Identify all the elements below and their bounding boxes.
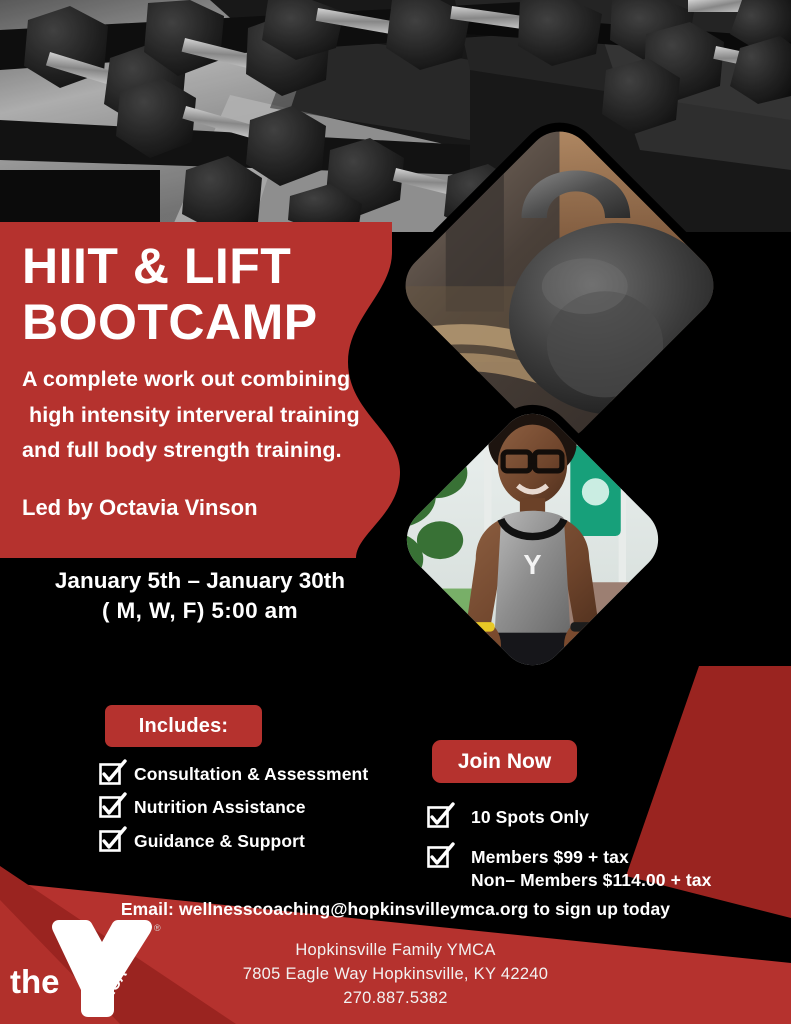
checkbox-checked-icon	[428, 846, 449, 867]
flyer-poster: Y HIIT & LIFT BOOTCAMP A complete work o…	[0, 0, 791, 1024]
list-item: Members $99 + tax Non– Members $114.00 +…	[428, 845, 768, 891]
list-item: Nutrition Assistance	[100, 795, 430, 818]
offer-item: Members $99 + tax Non– Members $114.00 +…	[471, 845, 711, 891]
ymca-logo: the YMCA ®	[8, 915, 168, 1020]
list-item: Guidance & Support	[100, 829, 430, 852]
includes-item-label: Guidance & Support	[134, 829, 305, 852]
schedule-block: January 5th – January 30th ( M, W, F) 5:…	[0, 566, 400, 626]
headline-block: HIIT & LIFT BOOTCAMP A complete work out…	[0, 222, 420, 558]
checkbox-checked-icon	[100, 796, 121, 817]
headline-line-2: BOOTCAMP	[22, 294, 420, 350]
checkbox-checked-icon	[100, 830, 121, 851]
list-item: Consultation & Assessment	[100, 762, 430, 785]
schedule-days-time: ( M, W, F) 5:00 am	[0, 596, 400, 626]
checkbox-checked-icon	[428, 806, 449, 827]
offer-line-1: 10 Spots Only	[471, 806, 589, 828]
headline-line-1: HIIT & LIFT	[22, 238, 291, 294]
top-banner-photo	[0, 0, 791, 232]
includes-item-label: Consultation & Assessment	[134, 762, 368, 785]
offers-checklist: 10 Spots Only Members $99 + tax Non– Mem…	[428, 805, 768, 908]
page-title: HIIT & LIFT BOOTCAMP	[22, 238, 420, 350]
list-item: 10 Spots Only	[428, 805, 768, 828]
svg-text:Y: Y	[523, 548, 541, 579]
instructor-portrait-photo: Y	[380, 387, 684, 691]
description-line-2: high intensity interveral training	[22, 398, 420, 434]
schedule-dates: January 5th – January 30th	[55, 568, 345, 593]
join-now-button[interactable]: Join Now	[432, 740, 577, 783]
offer-line-2: Non– Members $114.00 + tax	[471, 869, 711, 891]
logo-the-text: the	[10, 963, 60, 1000]
includes-badge: Includes:	[105, 705, 262, 747]
registered-mark: ®	[154, 923, 161, 933]
includes-badge-label: Includes:	[139, 715, 229, 738]
includes-item-label: Nutrition Assistance	[134, 795, 306, 818]
offer-item: 10 Spots Only	[471, 805, 589, 828]
offer-line-1: Members $99 + tax	[471, 846, 711, 868]
join-now-label: Join Now	[458, 750, 551, 774]
description-line-1: A complete work out combining	[22, 362, 420, 398]
description-line-3: and full body strength training.	[22, 433, 420, 469]
checkbox-checked-icon	[100, 763, 121, 784]
includes-checklist: Consultation & Assessment Nutrition Assi…	[100, 762, 430, 862]
instructor-credit: Led by Octavia Vinson	[22, 495, 420, 521]
description-block: A complete work out combining high inten…	[22, 362, 420, 469]
